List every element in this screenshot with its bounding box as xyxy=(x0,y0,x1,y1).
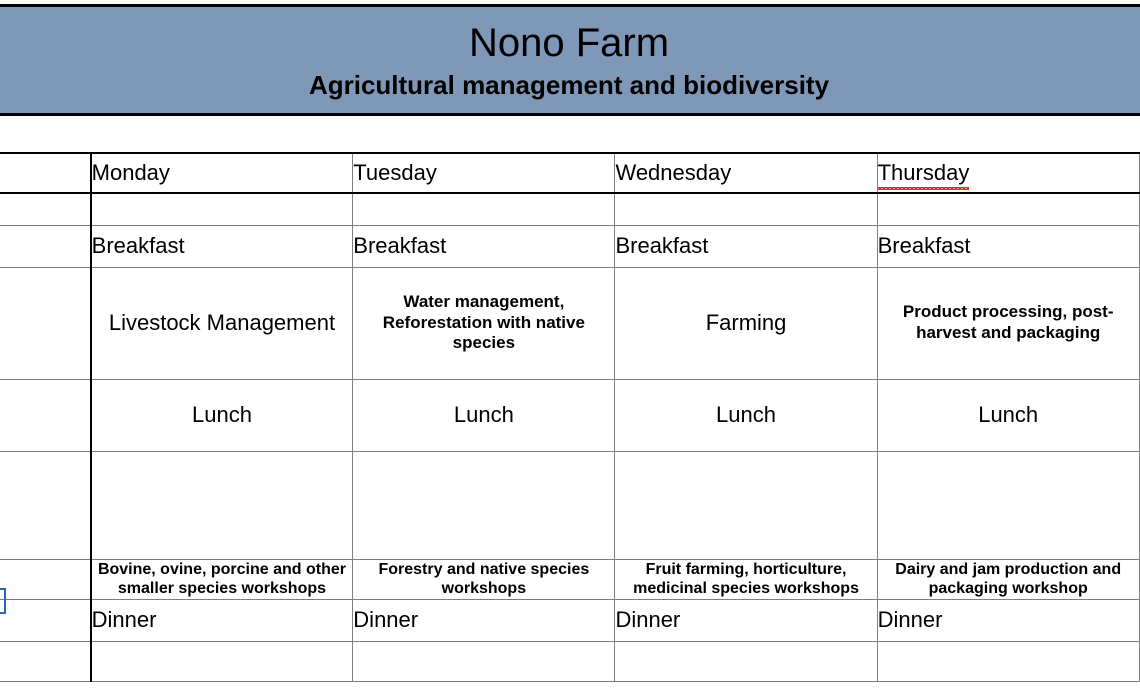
lunch-thursday[interactable]: Lunch xyxy=(877,379,1139,451)
cell-spacer-tuesday[interactable] xyxy=(353,193,615,225)
cell-tail-wednesday[interactable] xyxy=(615,641,877,681)
breakfast-sunday[interactable] xyxy=(0,225,91,267)
page-subtitle: Agricultural management and biodiversity xyxy=(309,71,829,100)
lunch-wednesday[interactable]: Lunch xyxy=(615,379,877,451)
morning-activity-thursday[interactable]: Product processing, post-harvest and pac… xyxy=(877,267,1139,379)
workshop-thursday[interactable]: Dairy and jam production and packaging w… xyxy=(877,559,1139,599)
dinner-tuesday[interactable]: Dinner xyxy=(353,599,615,641)
cell-spacer-sunday[interactable] xyxy=(0,193,91,225)
day-header-tuesday[interactable]: Tuesday xyxy=(353,153,615,193)
afternoon-thursday[interactable] xyxy=(877,451,1139,559)
afternoon-sunday[interactable] xyxy=(0,451,91,559)
cell-tail-sunday[interactable] xyxy=(0,641,91,681)
morning-activity-monday[interactable]: Livestock Management xyxy=(91,267,353,379)
dinner-monday[interactable]: Dinner xyxy=(91,599,353,641)
day-header-sunday[interactable]: y xyxy=(0,153,91,193)
dinner-thursday[interactable]: Dinner xyxy=(877,599,1139,641)
morning-activity-sunday[interactable] xyxy=(0,267,91,379)
breakfast-thursday[interactable]: Breakfast xyxy=(877,225,1139,267)
breakfast-monday[interactable]: Breakfast xyxy=(91,225,353,267)
schedule-table: y Monday Tuesday Wednesday Thursday Brea… xyxy=(0,152,1140,682)
afternoon-wednesday[interactable] xyxy=(615,451,877,559)
table-row-breakfast: Breakfast Breakfast Breakfast Breakfast xyxy=(0,225,1140,267)
day-header-thursday-label: Thursday xyxy=(878,160,970,186)
workshop-tuesday[interactable]: Forestry and native species workshops xyxy=(353,559,615,599)
table-row-morning-activity: Livestock Management Water management, R… xyxy=(0,267,1140,379)
lunch-monday[interactable]: Lunch xyxy=(91,379,353,451)
lunch-tuesday[interactable]: Lunch xyxy=(353,379,615,451)
day-header-wednesday[interactable]: Wednesday xyxy=(615,153,877,193)
morning-activity-wednesday[interactable]: Farming xyxy=(615,267,877,379)
morning-activity-tuesday[interactable]: Water management, Reforestation with nat… xyxy=(353,267,615,379)
breakfast-wednesday[interactable]: Breakfast xyxy=(615,225,877,267)
page-title: Nono Farm xyxy=(469,21,669,65)
top-gap-mask xyxy=(0,116,1140,152)
weekly-schedule: y Monday Tuesday Wednesday Thursday Brea… xyxy=(0,152,1140,682)
cell-selection-indicator[interactable] xyxy=(0,588,6,614)
table-row-dinner: r Dinner Dinner Dinner Dinner xyxy=(0,599,1140,641)
cell-tail-tuesday[interactable] xyxy=(353,641,615,681)
afternoon-tuesday[interactable] xyxy=(353,451,615,559)
table-row-spacer-top xyxy=(0,193,1140,225)
dinner-sunday[interactable]: r xyxy=(0,599,91,641)
cell-spacer-monday[interactable] xyxy=(91,193,353,225)
table-row-afternoon-workshop: Bovine, ovine, porcine and other smaller… xyxy=(0,559,1140,599)
workshop-sunday[interactable] xyxy=(0,559,91,599)
table-row-spacer-bottom xyxy=(0,641,1140,681)
table-row-lunch: Lunch Lunch Lunch Lunch xyxy=(0,379,1140,451)
day-header-thursday[interactable]: Thursday xyxy=(877,153,1139,193)
breakfast-tuesday[interactable]: Breakfast xyxy=(353,225,615,267)
lunch-sunday[interactable] xyxy=(0,379,91,451)
dinner-wednesday[interactable]: Dinner xyxy=(615,599,877,641)
cell-spacer-thursday[interactable] xyxy=(877,193,1139,225)
document-title-banner: Nono Farm Agricultural management and bi… xyxy=(0,4,1140,116)
table-row-day-headers: y Monday Tuesday Wednesday Thursday xyxy=(0,153,1140,193)
cell-tail-monday[interactable] xyxy=(91,641,353,681)
cell-spacer-wednesday[interactable] xyxy=(615,193,877,225)
workshop-wednesday[interactable]: Fruit farming, horticulture, medicinal s… xyxy=(615,559,877,599)
afternoon-monday[interactable] xyxy=(91,451,353,559)
table-row-afternoon xyxy=(0,451,1140,559)
cell-tail-thursday[interactable] xyxy=(877,641,1139,681)
day-header-monday[interactable]: Monday xyxy=(91,153,353,193)
workshop-monday[interactable]: Bovine, ovine, porcine and other smaller… xyxy=(91,559,353,599)
